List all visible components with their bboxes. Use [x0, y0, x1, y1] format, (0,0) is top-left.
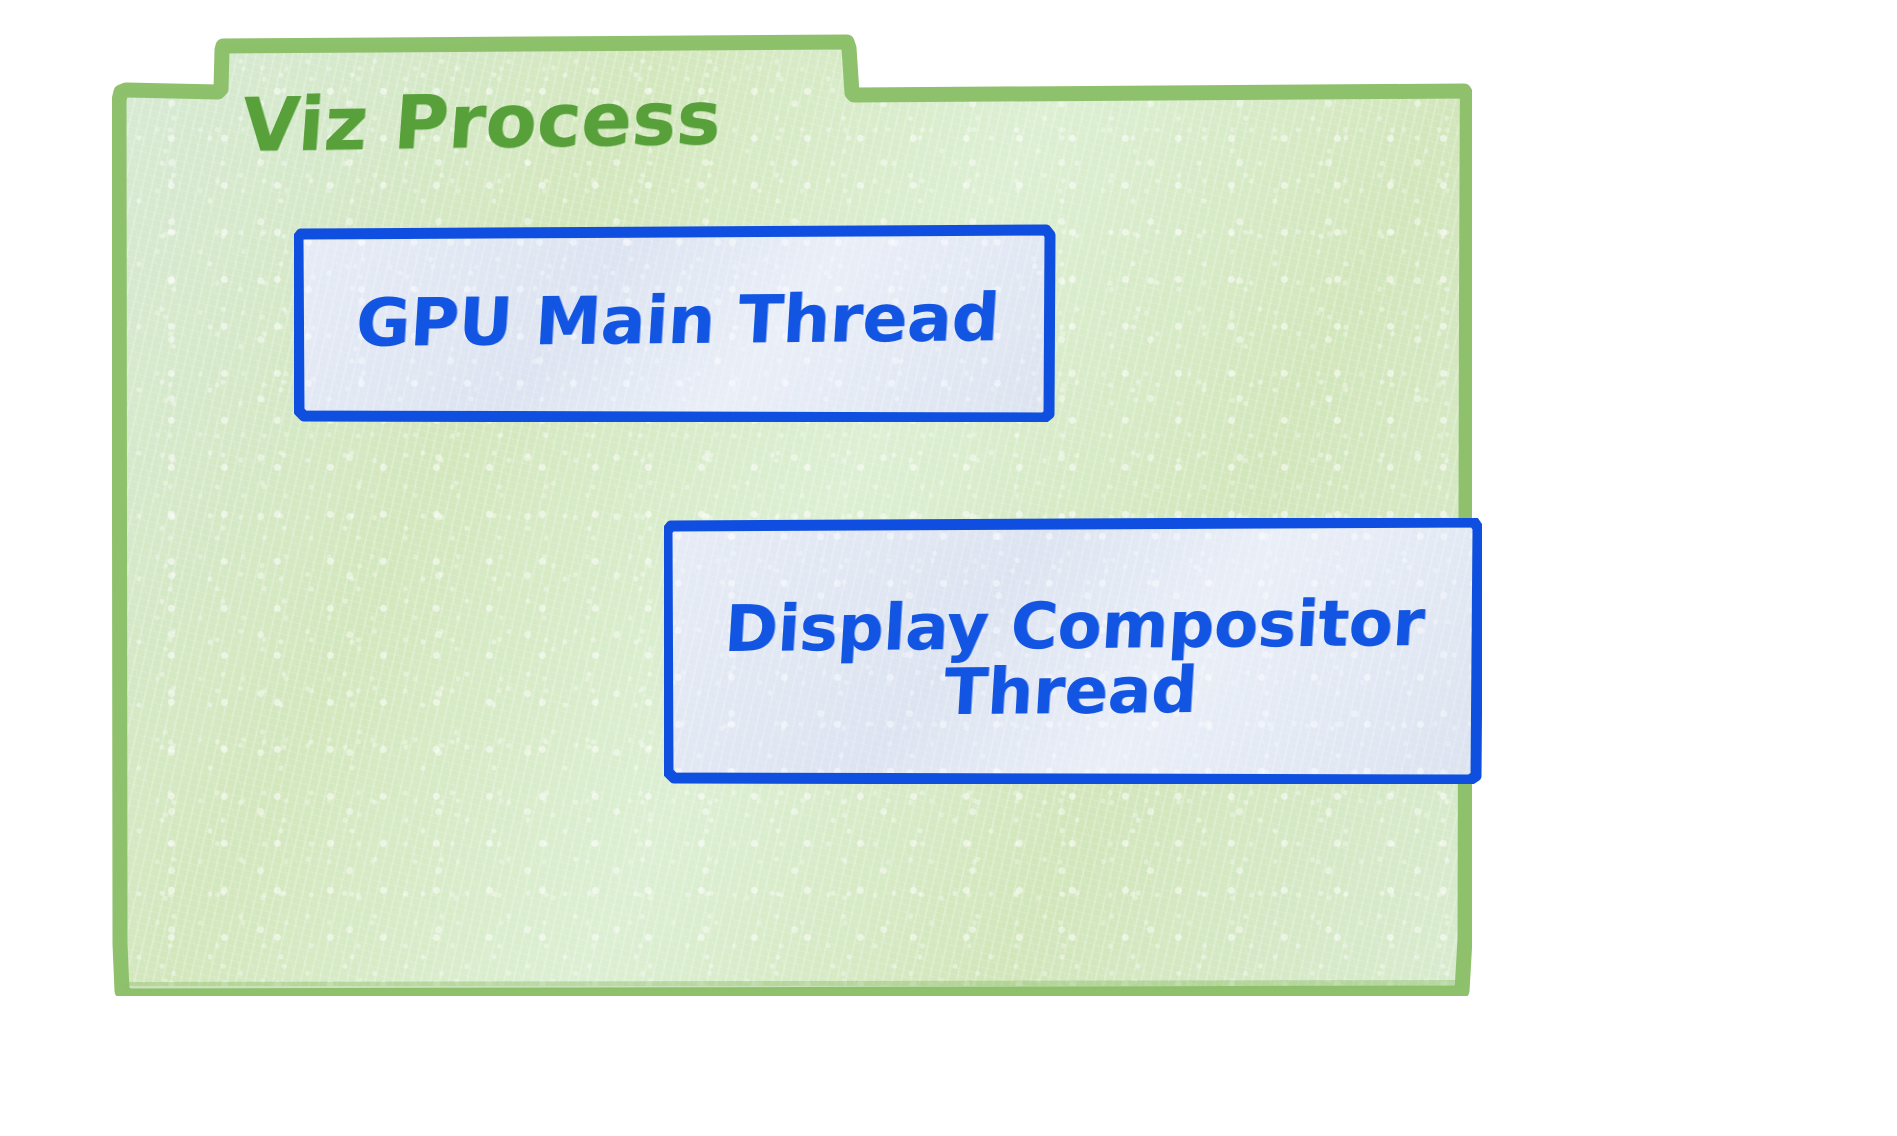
process-title-text: Viz Process [239, 75, 725, 169]
thread-box-display-compositor[interactable]: Display Compositor Thread [664, 518, 1482, 784]
process-outline [112, 34, 1472, 996]
process-title: Viz Process [239, 71, 865, 171]
viz-process-container[interactable]: Viz Process GPU Main Thread [112, 34, 1472, 996]
thread-box-gpu-main[interactable]: GPU Main Thread [294, 224, 1056, 422]
thread-outline-display-compositor [664, 518, 1482, 784]
diagram-canvas: Viz Process GPU Main Thread [0, 0, 1897, 1136]
thread-outline-gpu-main [294, 224, 1056, 422]
